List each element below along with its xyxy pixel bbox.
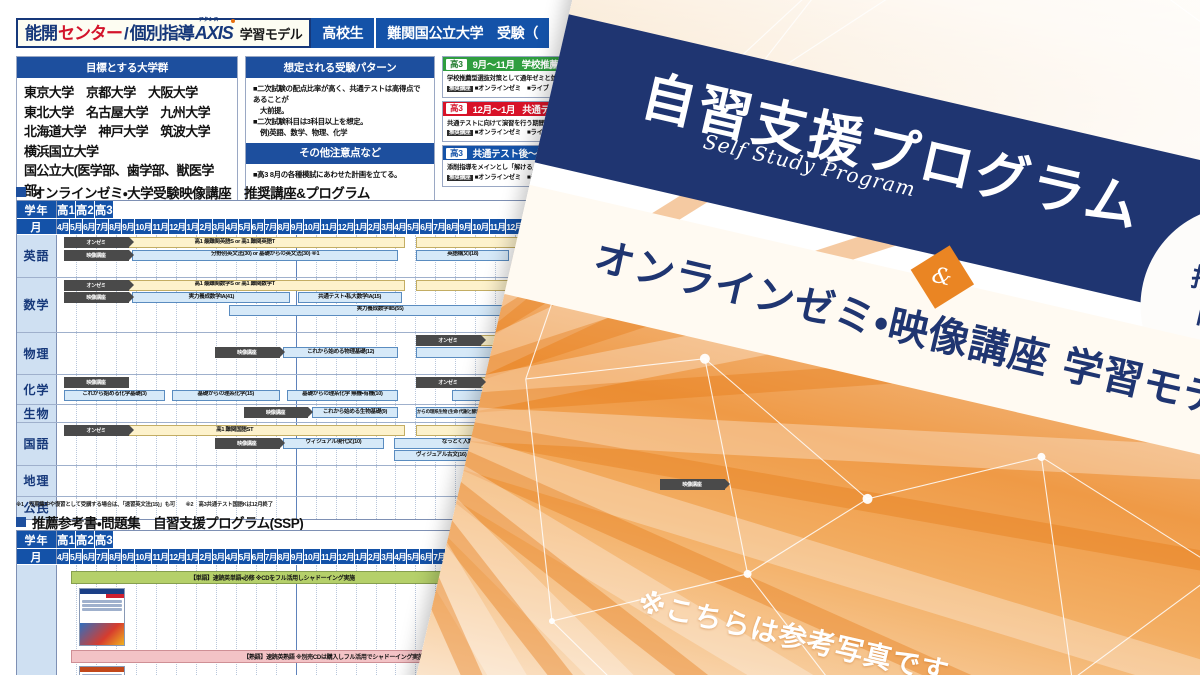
- exam-line-4: 例)英語、数学、物理、化学: [253, 127, 427, 138]
- month-cell: 7月: [96, 219, 109, 234]
- model-label: 学習モデル: [240, 24, 303, 43]
- barline-ge-1: 映像講座 日: [57, 479, 775, 490]
- month-cell: 2月: [199, 549, 212, 564]
- grade-period-2: 12月～1月: [473, 102, 516, 116]
- ssp-year-cell-k1: 高1: [57, 531, 76, 548]
- month-cell: 9月: [122, 219, 135, 234]
- chip-onzemi-ch: オンゼミ: [416, 377, 481, 388]
- axis-wordmark: アクシス AXIS: [195, 23, 233, 44]
- year-cell-k1: 高1: [57, 201, 76, 218]
- month-cell: 5月: [407, 219, 420, 234]
- bar-en-grammar: 分野別英文法(30) or 基礎からの英文法(30) ※1: [132, 250, 398, 261]
- panel-exam-title: 想定される受験パターン: [246, 57, 434, 78]
- month-cell: 4月: [226, 219, 239, 234]
- table1-month-label: 月: [17, 219, 57, 234]
- panel-target-title: 目標とする大学群: [17, 57, 237, 78]
- bar-en-kobun1: 英語構文I(18): [416, 250, 509, 261]
- ampersand-text: &: [930, 263, 955, 292]
- grid-column: [317, 497, 337, 519]
- chip-eizou-ph: 映像講座: [215, 347, 280, 358]
- month-cell: 11月: [490, 219, 507, 234]
- grid-column: [377, 497, 397, 519]
- section2-title: 推薦参考書・問題集 自習支援プログラム(SSP): [16, 512, 303, 532]
- month-cell: 12月: [338, 219, 355, 234]
- target-line-4: 横浜国立大学: [24, 142, 230, 162]
- book-artwork: [80, 623, 124, 645]
- other-line-1: ■高3 8月の各種模試にあわせた計画を立てる。: [253, 164, 427, 180]
- rec-courses-2: ■オンラインゼミ ■ライ: [475, 129, 543, 136]
- month-cell: 11月: [152, 549, 169, 564]
- grade-chip-1: 高3: [446, 59, 467, 70]
- month-cell: 11月: [321, 549, 338, 564]
- month-cell: 10月: [304, 549, 321, 564]
- axis-text: AXIS: [195, 23, 233, 43]
- chip-onzemi-ja: オンゼミ: [64, 425, 129, 436]
- subject-label-chemistry: 化学: [17, 375, 57, 404]
- rec-tag-2: 推奨講座: [447, 130, 473, 136]
- month-cell: 9月: [291, 219, 304, 234]
- panel-exam-body: ■二次試験の配点比率が高く、共通テストは高得点であることが 大前提。 ■二次試験…: [246, 78, 434, 186]
- month-cell: 7月: [433, 219, 446, 234]
- month-cell: 3月: [381, 549, 394, 564]
- month-cell: 2月: [199, 219, 212, 234]
- bar-bi-kiso: これから始める生物基礎(9): [312, 407, 398, 418]
- rec-tag-3: 推奨講座: [447, 175, 473, 181]
- month-cell: 7月: [265, 549, 278, 564]
- brand-logo: 能開 センター / 個別指導 アクシス AXIS 学習モデル: [16, 18, 311, 48]
- month-cell: 6月: [420, 219, 433, 234]
- month-cell: 8月: [109, 549, 122, 564]
- month-cell: 4月: [57, 219, 70, 234]
- subject-label-math: 数学: [17, 278, 57, 332]
- month-cell: 5月: [70, 549, 83, 564]
- grade-chip-3: 高3: [446, 148, 467, 159]
- month-cell: 7月: [265, 219, 278, 234]
- rec-courses-1: ■オンラインゼミ ■ライブ: [475, 85, 549, 92]
- month-cell: 4月: [226, 549, 239, 564]
- ssp-year-cell-k2: 高2: [76, 531, 95, 548]
- month-cell: 12月: [169, 219, 186, 234]
- logo-part3: 個別指導: [130, 25, 194, 42]
- month-cell: 6月: [83, 219, 96, 234]
- subject-label-geography: 地理: [17, 466, 57, 496]
- month-cell: 7月: [96, 549, 109, 564]
- bar-ch-rikei: 基礎からの理系化学(15): [172, 390, 280, 401]
- ssp-row-label: [17, 565, 57, 675]
- bar-ja-visual-gendai: ヴィジュアル現代文(10): [283, 438, 384, 449]
- bar-ma-ia: 実力養成数学IA(41): [132, 292, 290, 303]
- ssp-bar-vocab-required: 【単語】速読英単語・必修 ※CDをフル活用しシャドーイング実施: [71, 571, 473, 584]
- chip-eizou-en1: 映像講座: [64, 250, 129, 261]
- chip-eizou-bi: 映像講座: [244, 407, 309, 418]
- exam-line-1: ■二次試験の配点比率が高く、共通テストは高得点であることが: [253, 83, 427, 105]
- section-marker-icon: [16, 187, 26, 197]
- section1-title-text: オンラインゼミ・大学受験映像講座 推奨講座&プログラム: [32, 182, 370, 202]
- section2-marker-icon: [16, 517, 26, 527]
- month-cell: 4月: [57, 549, 70, 564]
- bar-bi-1-text: 基礎からの理系生物 (生命 代謝と酵素)(11): [416, 410, 481, 415]
- table2-month-label: 月: [17, 549, 57, 564]
- chip-onzemi-en1: オンゼミ: [64, 237, 129, 248]
- month-cell: 5月: [239, 219, 252, 234]
- month-cell: 11月: [321, 219, 338, 234]
- month-cell: 6月: [252, 549, 265, 564]
- month-cell: 1月: [355, 549, 368, 564]
- book-cover-sokudoku-tango: [79, 588, 125, 646]
- screenshot-root: 能開 センター / 個別指導 アクシス AXIS 学習モデル 高校生 難関国公立…: [0, 0, 1200, 675]
- grade-period-1: 9月～11月: [473, 57, 515, 71]
- year-cell-k3: 高3: [95, 201, 113, 218]
- table2-year-label: 学年: [17, 531, 57, 548]
- month-cell: 10月: [135, 219, 152, 234]
- subject-label-biology: 生物: [17, 405, 57, 422]
- chip-eizou-ma1: 映像講座: [64, 292, 129, 303]
- tab-university-target[interactable]: 難関国公立大学 受験（: [374, 18, 549, 48]
- rec-tag-1: 推奨講座: [447, 86, 473, 92]
- bar-ch-kiso: これから始める化学基礎(3): [64, 390, 165, 401]
- bar-ma-iib: 実力養成数学IIB(55): [229, 305, 531, 316]
- target-line-3: 北海道大学 神戸大学 筑波大学: [24, 122, 230, 142]
- year-cell-k2: 高2: [76, 201, 95, 218]
- chip-eizou-ja: 映像講座: [215, 438, 280, 449]
- subject-label-english: 英語: [17, 235, 57, 277]
- month-cell: 4月: [394, 219, 407, 234]
- table1-year-label: 学年: [17, 201, 57, 218]
- chip-onzemi-ma1: オンゼミ: [64, 280, 129, 291]
- month-cell: 8月: [109, 219, 122, 234]
- month-cell: 3月: [213, 219, 226, 234]
- month-cell: 6月: [83, 549, 96, 564]
- bar-ch-muki: 基礎からの理系化学 無機・有機(10): [287, 390, 398, 401]
- month-cell: 5月: [239, 549, 252, 564]
- chip-eizou-ge: 映像講座: [660, 479, 725, 490]
- month-cell: 9月: [291, 549, 304, 564]
- month-cell: 1月: [186, 219, 199, 234]
- month-cell: 2月: [368, 549, 381, 564]
- chip-eizou-ch: 映像講座: [64, 377, 129, 388]
- logo-slash: /: [124, 25, 128, 42]
- book-text-lines: [80, 598, 124, 623]
- grid-column: [357, 497, 377, 519]
- rec-courses-3: ■オンラインゼミ ■ラ: [475, 174, 537, 181]
- logo-part1: 能開: [25, 25, 57, 42]
- month-cell: 10月: [304, 219, 321, 234]
- month-cell: 5月: [70, 219, 83, 234]
- section1-footnote: ※1 短期集中や復習として受講する場合は、「速習英文法(15)」も可 ※2 高3…: [16, 500, 273, 508]
- bar-bi-1: 基礎からの理系生物 (生命 代謝と酵素)(11): [416, 407, 481, 418]
- subject-label-japanese: 国語: [17, 423, 57, 465]
- target-line-1: 東京大学 京都大学 大阪大学: [24, 83, 230, 103]
- month-cell: 10月: [135, 549, 152, 564]
- grid-column: [396, 497, 416, 519]
- grade-chip-2: 高3: [446, 103, 467, 114]
- month-cell: 8月: [278, 219, 291, 234]
- sheet-title-bar: 能開 センター / 個別指導 アクシス AXIS 学習モデル 高校生 難関国公立…: [16, 18, 549, 48]
- month-cell: 1月: [186, 549, 199, 564]
- month-cell: 2月: [368, 219, 381, 234]
- ssp-year-cell-k3: 高3: [95, 531, 113, 548]
- grade-heading-1: 学校推薦: [522, 57, 559, 71]
- axis-dot-icon: [231, 19, 235, 23]
- tab-highschool[interactable]: 高校生: [311, 18, 374, 48]
- chip-onzemi-ph: オンゼミ: [416, 335, 481, 346]
- exam-line-3: ■二次試験科目は3科目以上を想定。: [253, 116, 427, 127]
- month-cell: 1月: [355, 219, 368, 234]
- subject-label-physics: 物理: [17, 333, 57, 375]
- panel-other-title: その他注意点など: [246, 143, 434, 165]
- month-cell: 6月: [420, 549, 433, 564]
- month-cell: 8月: [446, 219, 459, 234]
- month-cell: 12月: [169, 549, 186, 564]
- bar-ma-kyotsu-ia: 共通テスト・私大数学IA(15): [298, 292, 402, 303]
- logo-part2: センター: [58, 25, 122, 42]
- month-cell: 4月: [394, 549, 407, 564]
- axis-ruby: アクシス: [199, 16, 219, 23]
- month-cell: 11月: [152, 219, 169, 234]
- bar-ph-kiso: これから始める物理基礎(12): [283, 347, 398, 358]
- exam-line-2: 大前提。: [253, 105, 427, 116]
- grid-column: [337, 497, 357, 519]
- month-cell: 9月: [459, 219, 472, 234]
- month-cell: 8月: [278, 549, 291, 564]
- month-cell: 3月: [381, 219, 394, 234]
- section2-title-text: 推薦参考書・問題集 自習支援プログラム(SSP): [32, 512, 303, 532]
- month-cell: 3月: [213, 549, 226, 564]
- month-cell: 9月: [122, 549, 135, 564]
- target-line-2: 東北大学 名古屋大学 九州大学: [24, 103, 230, 123]
- book-cover-sokudoku-jukugo: [79, 666, 125, 675]
- month-cell: 10月: [472, 219, 489, 234]
- month-cell: 12月: [338, 549, 355, 564]
- month-cell: 6月: [252, 219, 265, 234]
- grid-column: [416, 497, 436, 519]
- month-cell: 5月: [407, 549, 420, 564]
- section1-title: オンラインゼミ・大学受験映像講座 推奨講座&プログラム: [16, 182, 370, 202]
